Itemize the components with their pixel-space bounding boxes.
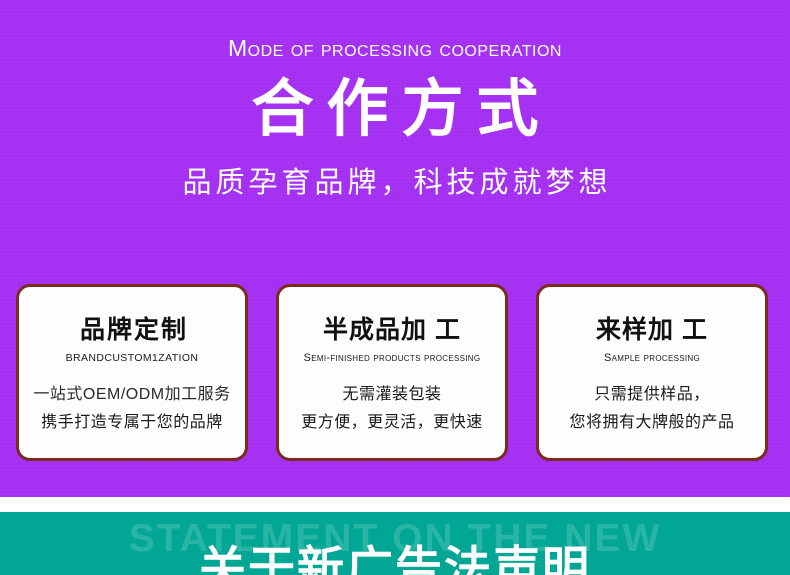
card-description-line-1: 只需提供样品， (539, 383, 765, 407)
card-description-line-2: 携手打造专属于您的品牌 (19, 411, 245, 435)
card-description-line-1: 一站式OEM/ODM加工服务 (19, 383, 245, 407)
hero-title: 合作方式 (0, 74, 790, 146)
card-title: 半成品加 工 (279, 315, 505, 345)
section-separator (0, 497, 790, 512)
hero-eyebrow: Mode of processing cooperation (0, 33, 790, 63)
card-title: 品牌定制 (19, 315, 245, 345)
card-english-subtitle: BRANDCUSTOM1ZATION (19, 351, 245, 365)
hero-section: Mode of processing cooperation 合作方式 品质孕育… (0, 0, 790, 497)
promo-page: Mode of processing cooperation 合作方式 品质孕育… (0, 0, 790, 575)
statement-banner: STATEMENT ON THE NEW 关于新广告法声明 (0, 512, 790, 575)
feature-card-brand-customization[interactable]: 品牌定制 BRANDCUSTOM1ZATION 一站式OEM/ODM加工服务 携… (16, 284, 248, 461)
card-description-line-2: 您将拥有大牌般的产品 (539, 411, 765, 435)
feature-card-semi-finished-processing[interactable]: 半成品加 工 Semi-finished products processing… (276, 284, 508, 461)
card-title: 来样加 工 (539, 315, 765, 345)
card-description-line-1: 无需灌装包装 (279, 383, 505, 407)
banner-title: 关于新广告法声明 (0, 542, 790, 575)
feature-card-sample-processing[interactable]: 来样加 工 Sample processing 只需提供样品， 您将拥有大牌般的… (536, 284, 768, 461)
card-english-subtitle: Semi-finished products processing (279, 351, 505, 365)
card-description-line-2: 更方便，更灵活，更快速 (279, 411, 505, 435)
feature-card-list: 品牌定制 BRANDCUSTOM1ZATION 一站式OEM/ODM加工服务 携… (16, 284, 768, 461)
card-english-subtitle: Sample processing (539, 351, 765, 365)
hero-subtitle: 品质孕育品牌，科技成就梦想 (0, 163, 790, 203)
